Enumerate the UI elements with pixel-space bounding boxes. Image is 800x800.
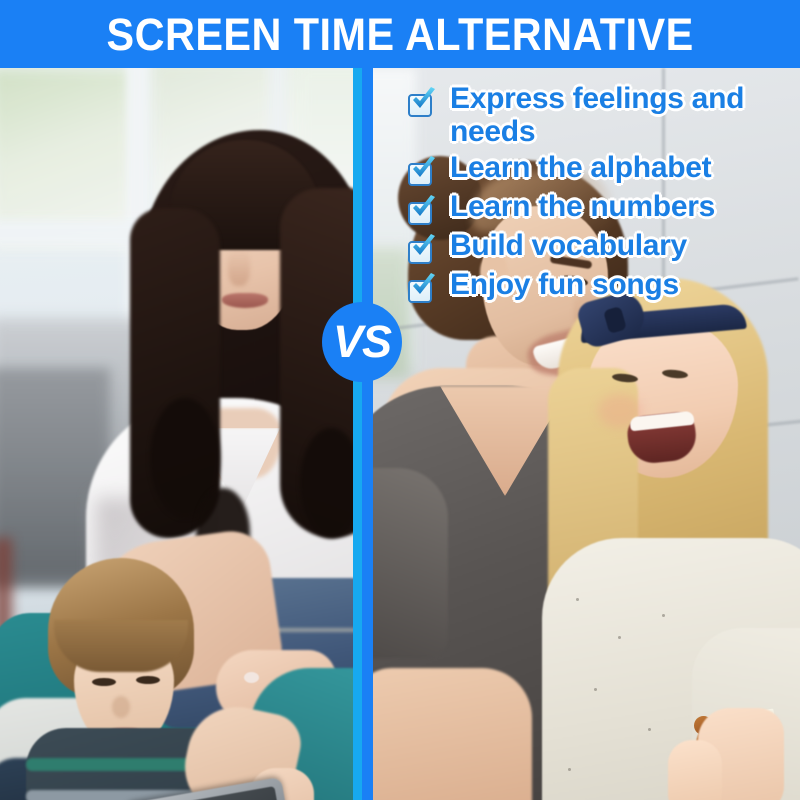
list-item: Express feelings and needs bbox=[406, 82, 798, 148]
checkbox-checked-icon bbox=[406, 236, 436, 265]
boy-eye-left bbox=[92, 678, 116, 686]
benefit-label: Learn the alphabet bbox=[450, 151, 711, 184]
center-divider bbox=[353, 68, 373, 800]
checkmark-icon bbox=[409, 194, 438, 223]
benefits-checklist: Express feelings and needs Learn the alp… bbox=[406, 82, 798, 307]
list-item: Learn the numbers bbox=[406, 190, 798, 226]
sweater-speck bbox=[662, 614, 665, 617]
checkbox-checked-icon bbox=[406, 197, 436, 226]
divider-stripe-blue bbox=[362, 68, 373, 800]
checkmark-icon bbox=[409, 233, 438, 262]
list-item: Learn the alphabet bbox=[406, 151, 798, 187]
sweater-speck bbox=[618, 636, 621, 639]
boy-eye-right bbox=[136, 676, 160, 684]
sweater-speck bbox=[568, 768, 571, 771]
vs-badge: VS bbox=[322, 302, 402, 382]
benefit-label: Express feelings and needs bbox=[450, 82, 798, 148]
sweater-speck bbox=[648, 728, 651, 731]
mother-right-forearm bbox=[362, 668, 532, 800]
left-photo-illustration bbox=[0, 68, 362, 800]
checkbox-checked-icon bbox=[406, 275, 436, 304]
list-item: Enjoy fun songs bbox=[406, 268, 798, 304]
vs-label: VS bbox=[333, 319, 391, 364]
mother-right-sleeve bbox=[362, 468, 448, 658]
checkmark-icon bbox=[409, 86, 438, 115]
girl-hand-left bbox=[668, 740, 722, 800]
mother-left-fingernail bbox=[244, 672, 259, 683]
checkbox-checked-icon bbox=[406, 89, 436, 118]
boy-nose bbox=[112, 696, 130, 718]
mother-left-nose bbox=[228, 248, 250, 286]
checkmark-icon bbox=[409, 272, 438, 301]
header-banner: SCREEN TIME ALTERNATIVE bbox=[0, 0, 800, 68]
benefit-label: Enjoy fun songs bbox=[450, 268, 679, 301]
list-item: Build vocabulary bbox=[406, 229, 798, 265]
benefit-label: Learn the numbers bbox=[450, 190, 715, 223]
benefit-label: Build vocabulary bbox=[450, 229, 687, 262]
sweater-speck bbox=[576, 598, 579, 601]
promo-image-canvas: SCREEN TIME ALTERNATIVE bbox=[0, 0, 800, 800]
left-photo-panel bbox=[0, 68, 362, 800]
checkmark-icon bbox=[409, 155, 438, 184]
checkbox-checked-icon bbox=[406, 158, 436, 187]
sweater-speck bbox=[594, 688, 597, 691]
page-title: SCREEN TIME ALTERNATIVE bbox=[106, 12, 693, 57]
mother-left-mouth bbox=[222, 293, 268, 308]
divider-stripe-cyan bbox=[353, 68, 362, 800]
